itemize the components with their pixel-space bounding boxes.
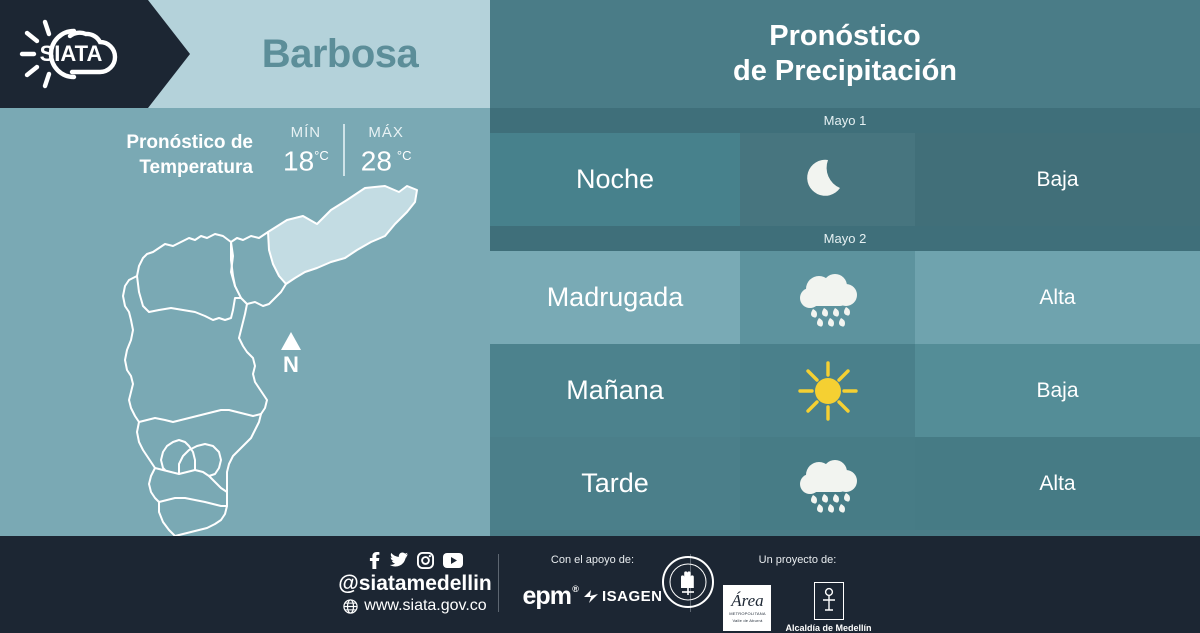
support-caption: Con el apoyo de:: [505, 554, 680, 566]
map-region-highlighted: [268, 186, 417, 284]
forecast-row-manana: Mañana Baja: [490, 344, 1200, 437]
forecast-period-madrugada: Madrugada: [490, 251, 740, 344]
date-band-first: Mayo 1: [490, 108, 1200, 133]
forecast-period-noche: Noche: [490, 133, 740, 226]
area-logo-name: Área: [731, 593, 763, 609]
website-line[interactable]: www.siata.gov.co: [300, 596, 530, 616]
alcaldia-figure-icon: [819, 586, 839, 616]
alcaldia-logo-text: Alcaldía de Medellín: [785, 623, 871, 633]
isagen-mark-icon: [583, 589, 599, 604]
facebook-icon[interactable]: [368, 551, 381, 569]
city-title: Barbosa: [190, 0, 490, 108]
siata-logo-text: SIATA: [40, 41, 103, 66]
social-handle[interactable]: @siatamedellin: [300, 571, 530, 596]
forecast-probability-madrugada: Alta: [915, 251, 1200, 344]
rain-cloud-icon: [797, 269, 859, 327]
seal-hand-icon: [668, 562, 708, 602]
precipitation-title: Pronóstico de Precipitación: [490, 0, 1200, 108]
aburra-valley-map: [55, 180, 475, 536]
temperature-min-value: 18°C: [283, 141, 329, 176]
temperature-max-label: MÁX: [361, 124, 412, 141]
forecast-period-tarde: Tarde: [490, 437, 740, 530]
area-metropolitana-logo: Área METROPOLITANA Valle de Aburrá: [723, 585, 771, 631]
social-block: @siatamedellin www.siata.gov.co: [300, 550, 530, 616]
precipitation-title-line2: de Precipitación: [733, 54, 957, 89]
forecast-probability-manana: Baja: [915, 344, 1200, 437]
footer-divider-1: [498, 554, 499, 612]
moon-icon-cell: [740, 133, 915, 226]
forecast-row-noche: Noche Baja: [490, 133, 1200, 226]
epm-registered-mark: ®: [572, 584, 578, 594]
north-label: N: [283, 352, 299, 376]
instagram-icon[interactable]: [417, 552, 434, 569]
temperature-title-line2: Temperatura: [68, 155, 253, 180]
precipitation-title-line1: Pronóstico: [769, 19, 920, 54]
forecast-row-tarde: Tarde: [490, 437, 1200, 530]
social-icons: [300, 550, 530, 570]
temperature-values: MÍN 18°C MÁX 28°C: [275, 122, 420, 176]
moon-icon: [800, 152, 856, 208]
project-caption: Un proyecto de:: [710, 554, 885, 566]
epm-logo-text: epm: [523, 582, 571, 610]
temperature-min: MÍN 18°C: [275, 124, 337, 176]
support-block: Con el apoyo de: epm® ISAGEN: [505, 554, 680, 611]
sun-icon: [797, 360, 859, 422]
twitter-icon[interactable]: [390, 551, 408, 569]
temperature-title-line1: Pronóstico de: [68, 130, 253, 155]
map-svg: [55, 180, 475, 536]
temperature-max-unit: °C: [397, 148, 412, 163]
forecast-probability-noche: Baja: [915, 133, 1200, 226]
temperature-min-unit: °C: [314, 148, 329, 163]
support-brands: epm® ISAGEN: [505, 582, 680, 611]
isagen-logo: ISAGEN: [583, 588, 663, 605]
area-logo-sub2: Valle de Aburrá: [732, 618, 762, 623]
north-arrow-icon: N: [276, 330, 306, 376]
temperature-title: Pronóstico de Temperatura: [68, 122, 253, 180]
area-logo-sub: METROPOLITANA: [729, 611, 766, 616]
siata-logo-icon: SIATA: [14, 14, 134, 94]
precipitation-panel: Pronóstico de Precipitación Mayo 1 Noche…: [490, 0, 1200, 536]
temperature-min-number: 18: [283, 145, 314, 176]
epm-logo: epm®: [523, 582, 571, 611]
temperature-max: MÁX 28°C: [343, 124, 420, 176]
map-region-outlines: [123, 232, 286, 536]
alcaldia-emblem-icon: [814, 582, 844, 620]
infographic-root: SIATA Barbosa Pronóstico de Temperatura …: [0, 0, 1200, 630]
left-panel: SIATA Barbosa Pronóstico de Temperatura …: [0, 0, 490, 536]
temperature-min-label: MÍN: [283, 124, 329, 141]
forecast-probability-tarde: Alta: [915, 437, 1200, 530]
website-url: www.siata.gov.co: [364, 596, 486, 616]
project-logos: Área METROPOLITANA Valle de Aburrá Alcal…: [710, 582, 885, 633]
sun-icon-cell: [740, 344, 915, 437]
globe-icon: [343, 599, 358, 614]
rain-cloud-icon: [797, 455, 859, 513]
project-block: Un proyecto de: Área METROPOLITANA Valle…: [710, 554, 885, 633]
isagen-logo-text: ISAGEN: [602, 588, 663, 605]
medellin-seal-icon: [662, 556, 714, 608]
date-band-second: Mayo 2: [490, 226, 1200, 251]
temperature-max-value: 28°C: [361, 141, 412, 176]
temperature-max-number: 28: [361, 145, 392, 176]
youtube-icon[interactable]: [443, 553, 463, 568]
forecast-row-madrugada: Madrugada: [490, 251, 1200, 344]
forecast-period-manana: Mañana: [490, 344, 740, 437]
footer: @siatamedellin www.siata.gov.co Con el a…: [0, 536, 1200, 630]
alcaldia-logo: Alcaldía de Medellín: [785, 582, 871, 633]
rain-cloud-icon-cell-madrugada: [740, 251, 915, 344]
rain-cloud-icon-cell-tarde: [740, 437, 915, 530]
